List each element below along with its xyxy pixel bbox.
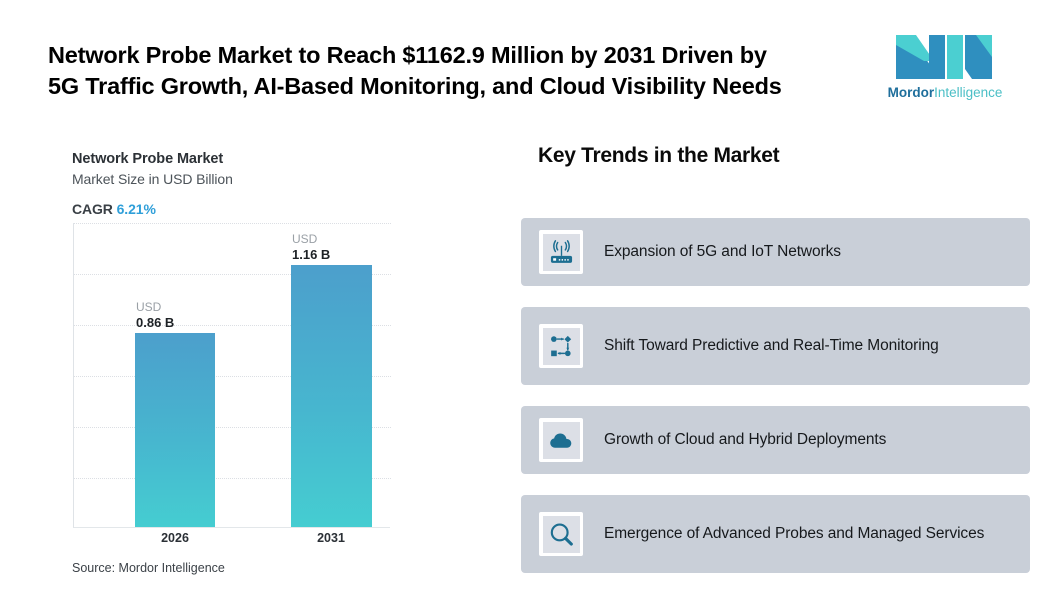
bar-2026 [135,333,215,527]
router-signal-icon [548,239,575,266]
workflow-nodes-icon [548,333,575,360]
trend-icon-tile [539,230,583,274]
cagr-value: 6.21% [117,201,156,217]
magnifier-icon [548,521,575,548]
trend-card-label: Growth of Cloud and Hybrid Deployments [604,429,900,451]
header: Network Probe Market to Reach $1162.9 Mi… [0,0,1062,122]
infographic-page: Network Probe Market to Reach $1162.9 Mi… [0,0,1062,608]
logo-wordmark-bold: Mordor [888,85,935,100]
chart-subtitle: Market Size in USD Billion [72,171,233,187]
cagr-label: CAGR [72,201,113,217]
logo-wordmark: MordorIntelligence [880,85,1010,100]
trend-icon-tile [539,418,583,462]
trends-panel: Key Trends in the Market E [521,130,1033,580]
cagr-row: CAGR 6.21% [72,201,156,217]
logo: MordorIntelligence [880,33,1010,105]
cloud-icon [548,427,575,454]
trend-card-advanced-probes[interactable]: Emergence of Advanced Probes and Managed… [521,495,1030,573]
trends-heading: Key Trends in the Market [538,144,779,168]
page-title: Network Probe Market to Reach $1162.9 Mi… [48,40,848,102]
trend-icon-tile [539,512,583,556]
chart-source: Source: Mordor Intelligence [72,561,225,575]
trend-card-label: Emergence of Advanced Probes and Managed… [604,523,998,545]
x-axis-tick-2031: 2031 [271,531,391,545]
bar-label-unit: USD [136,300,174,315]
chart-title: Network Probe Market [72,151,223,167]
bar-label-2026: USD 0.86 B [136,300,174,330]
trend-card-label: Shift Toward Predictive and Real-Time Mo… [604,335,953,357]
bar-label-value: 0.86 B [136,315,174,330]
trend-card-5g-iot[interactable]: Expansion of 5G and IoT Networks [521,218,1030,286]
bar-label-value: 1.16 B [292,247,330,262]
chart-panel: Network Probe Market Market Size in USD … [0,130,500,600]
chart-plot-area: USD 0.86 B USD 1.16 B 2026 2031 [73,223,390,528]
trend-card-cloud-hybrid[interactable]: Growth of Cloud and Hybrid Deployments [521,406,1030,474]
trend-card-predictive-monitoring[interactable]: Shift Toward Predictive and Real-Time Mo… [521,307,1030,385]
page-title-line-1: Network Probe Market to Reach $1162.9 Mi… [48,40,848,71]
logo-wordmark-light: Intelligence [934,85,1002,100]
bar-label-2031: USD 1.16 B [292,232,330,262]
gridline [74,223,391,224]
bar-2031 [291,265,372,527]
x-axis-tick-2026: 2026 [115,531,235,545]
page-title-line-2: 5G Traffic Growth, AI-Based Monitoring, … [48,71,848,102]
mordor-logo-icon [894,33,994,81]
bar-label-unit: USD [292,232,330,247]
trend-card-label: Expansion of 5G and IoT Networks [604,241,855,263]
trend-icon-tile [539,324,583,368]
